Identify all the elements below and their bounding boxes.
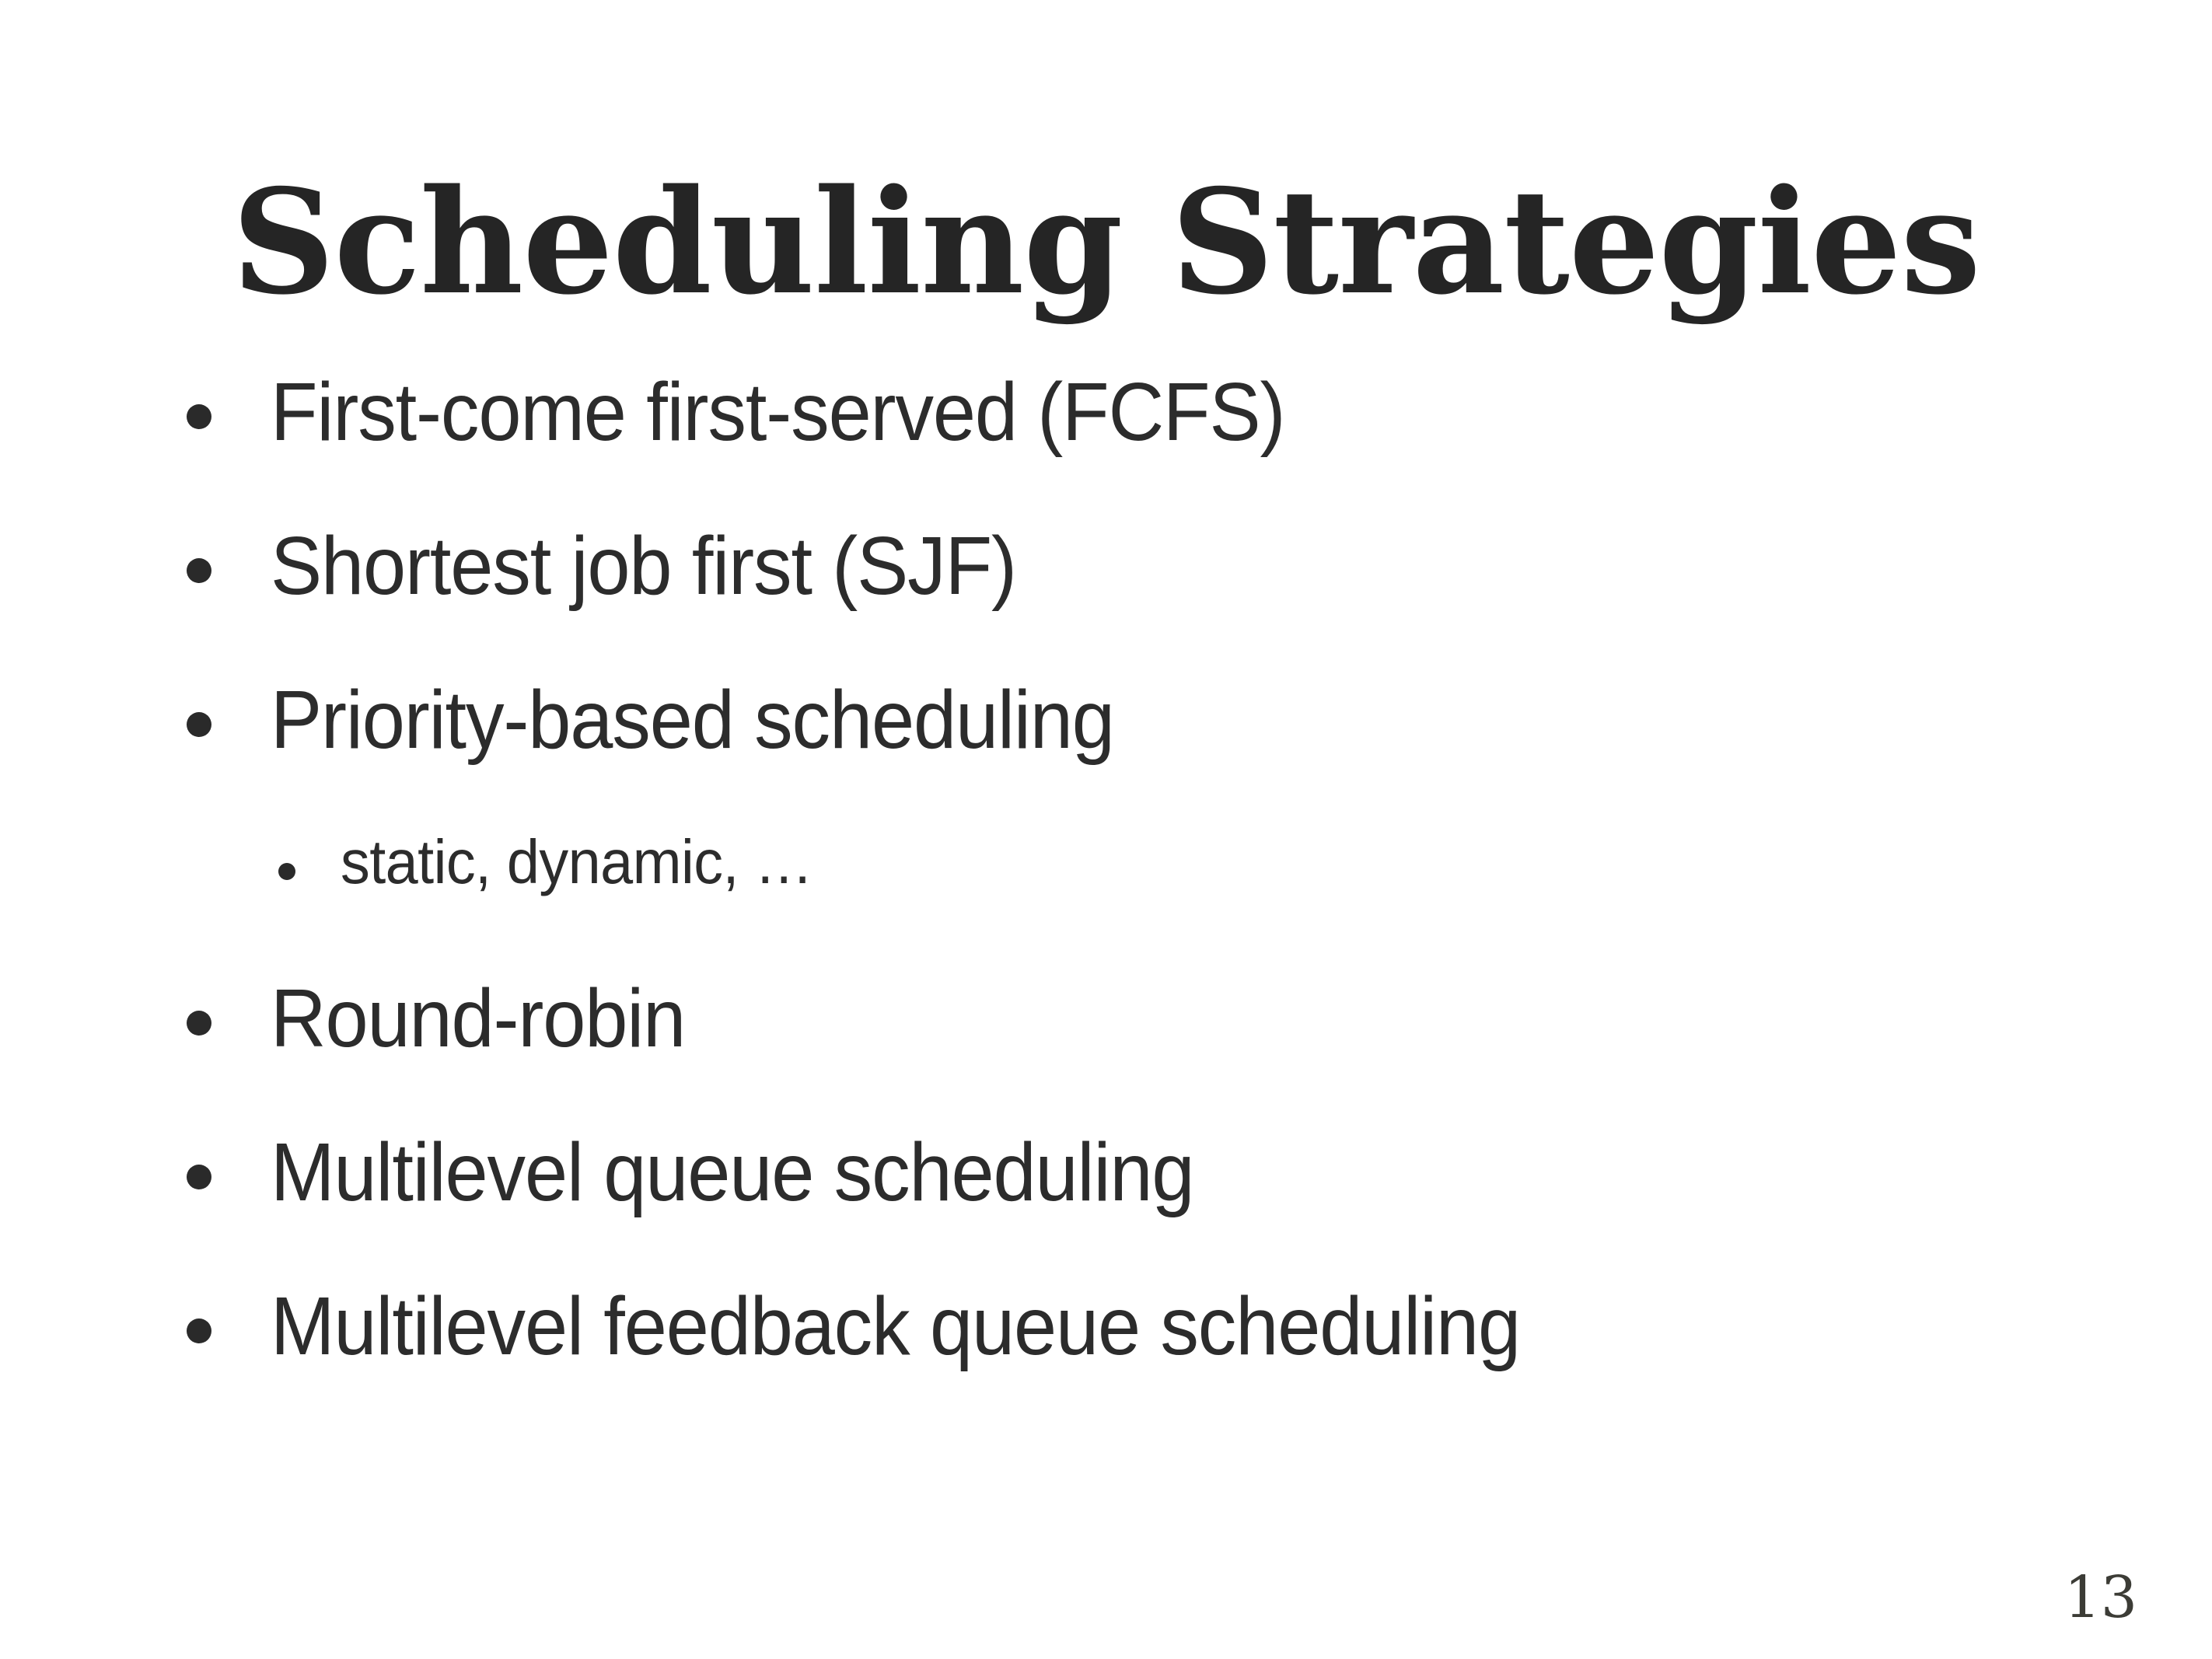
bullet-point-icon — [187, 404, 211, 429]
bullet-list: First-come first-served (FCFS) Shortest … — [187, 359, 2068, 1427]
list-item: Round-robin — [187, 966, 2068, 1119]
bullet-point-icon — [187, 1318, 211, 1343]
list-item: Multilevel queue scheduling — [187, 1119, 2068, 1273]
list-item-label: Multilevel feedback queue scheduling — [271, 1278, 1520, 1375]
presentation-slide: Scheduling Strategies First-come first-s… — [0, 0, 2212, 1659]
bullet-point-icon — [187, 1011, 211, 1036]
list-item-label: Priority-based scheduling — [271, 672, 1114, 769]
page-number: 13 — [2064, 1569, 2137, 1626]
list-item: Multilevel feedback queue scheduling — [187, 1273, 2068, 1427]
sub-list-item-label: static, dynamic, … — [341, 826, 812, 899]
bullet-point-icon — [187, 712, 211, 737]
list-item-label: Shortest job first (SJF) — [271, 518, 1016, 615]
list-item-label: First-come first-served (FCFS) — [271, 364, 1284, 461]
list-item-label: Multilevel queue scheduling — [271, 1124, 1193, 1221]
list-item: Priority-based scheduling — [187, 667, 2068, 821]
sub-list-item: static, dynamic, … — [187, 821, 2068, 966]
sub-bullet-point-icon — [278, 863, 295, 880]
list-item: First-come first-served (FCFS) — [187, 359, 2068, 513]
list-item-label: Round-robin — [271, 970, 685, 1067]
list-item: Shortest job first (SJF) — [187, 513, 2068, 667]
bullet-point-icon — [187, 1165, 211, 1189]
bullet-point-icon — [187, 558, 211, 583]
slide-title: Scheduling Strategies — [11, 170, 2201, 314]
